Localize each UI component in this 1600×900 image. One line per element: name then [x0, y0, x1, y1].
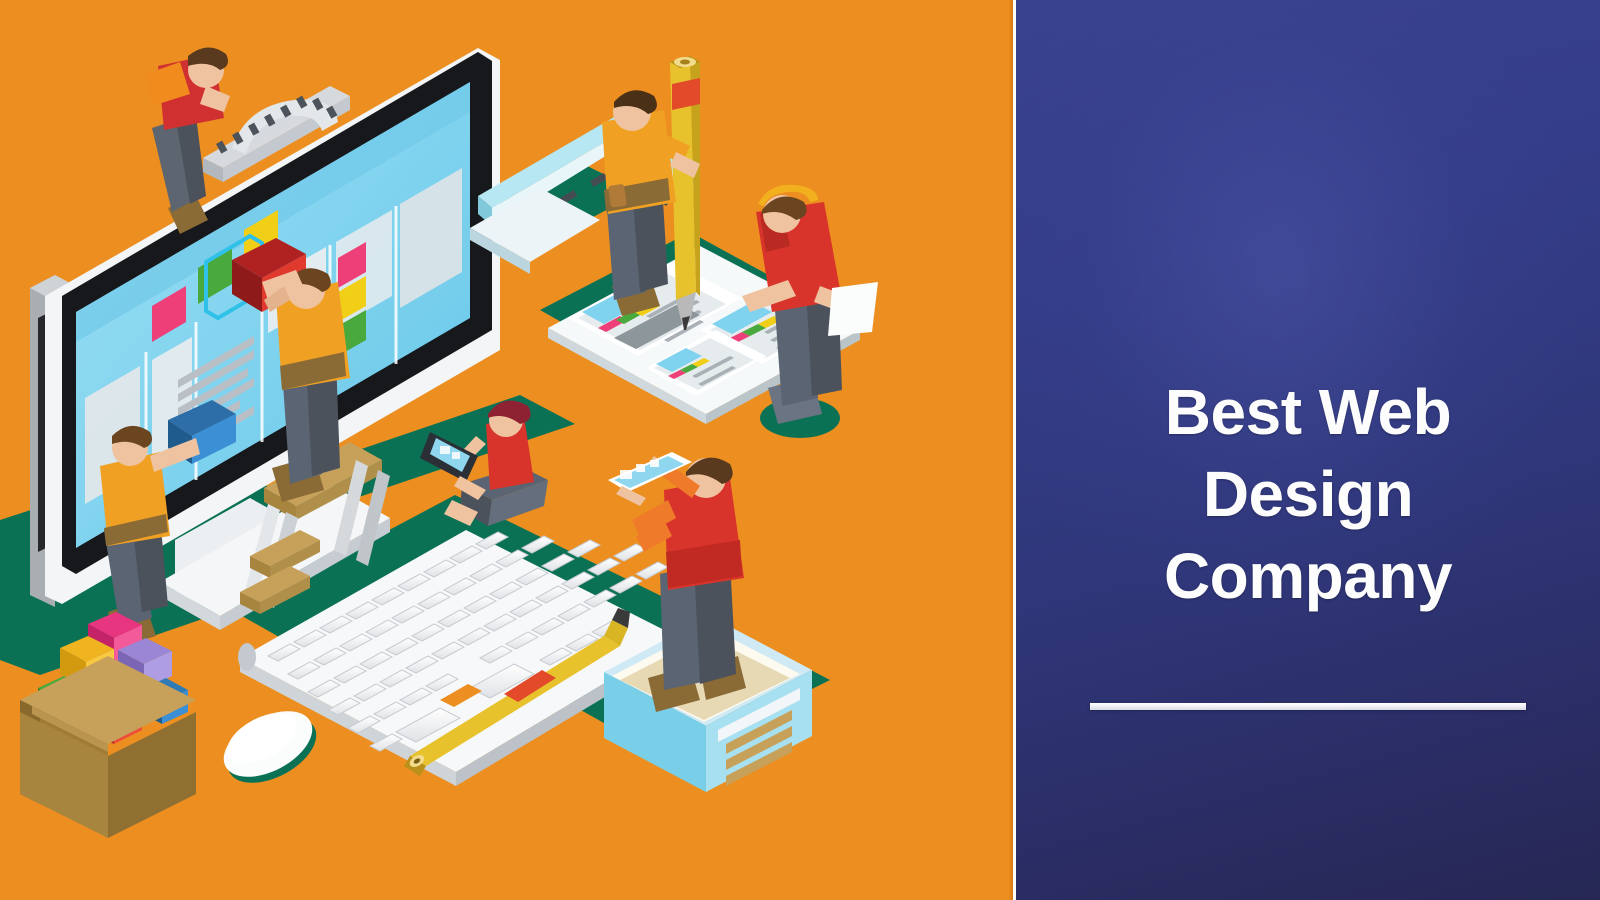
title-divider-rule: [1090, 703, 1526, 710]
panel-edge-shadow: [1009, 0, 1013, 900]
title-panel: Best Web Design Company: [1016, 0, 1600, 900]
isometric-team-illustration: [0, 0, 1013, 900]
page-title-line-2: Company: [1055, 536, 1561, 618]
page-title: Best Web Design Company: [1055, 372, 1561, 618]
illustration-panel: [0, 0, 1013, 900]
poster-canvas: Best Web Design Company: [0, 0, 1600, 900]
page-title-line-1: Best Web Design: [1055, 372, 1561, 536]
